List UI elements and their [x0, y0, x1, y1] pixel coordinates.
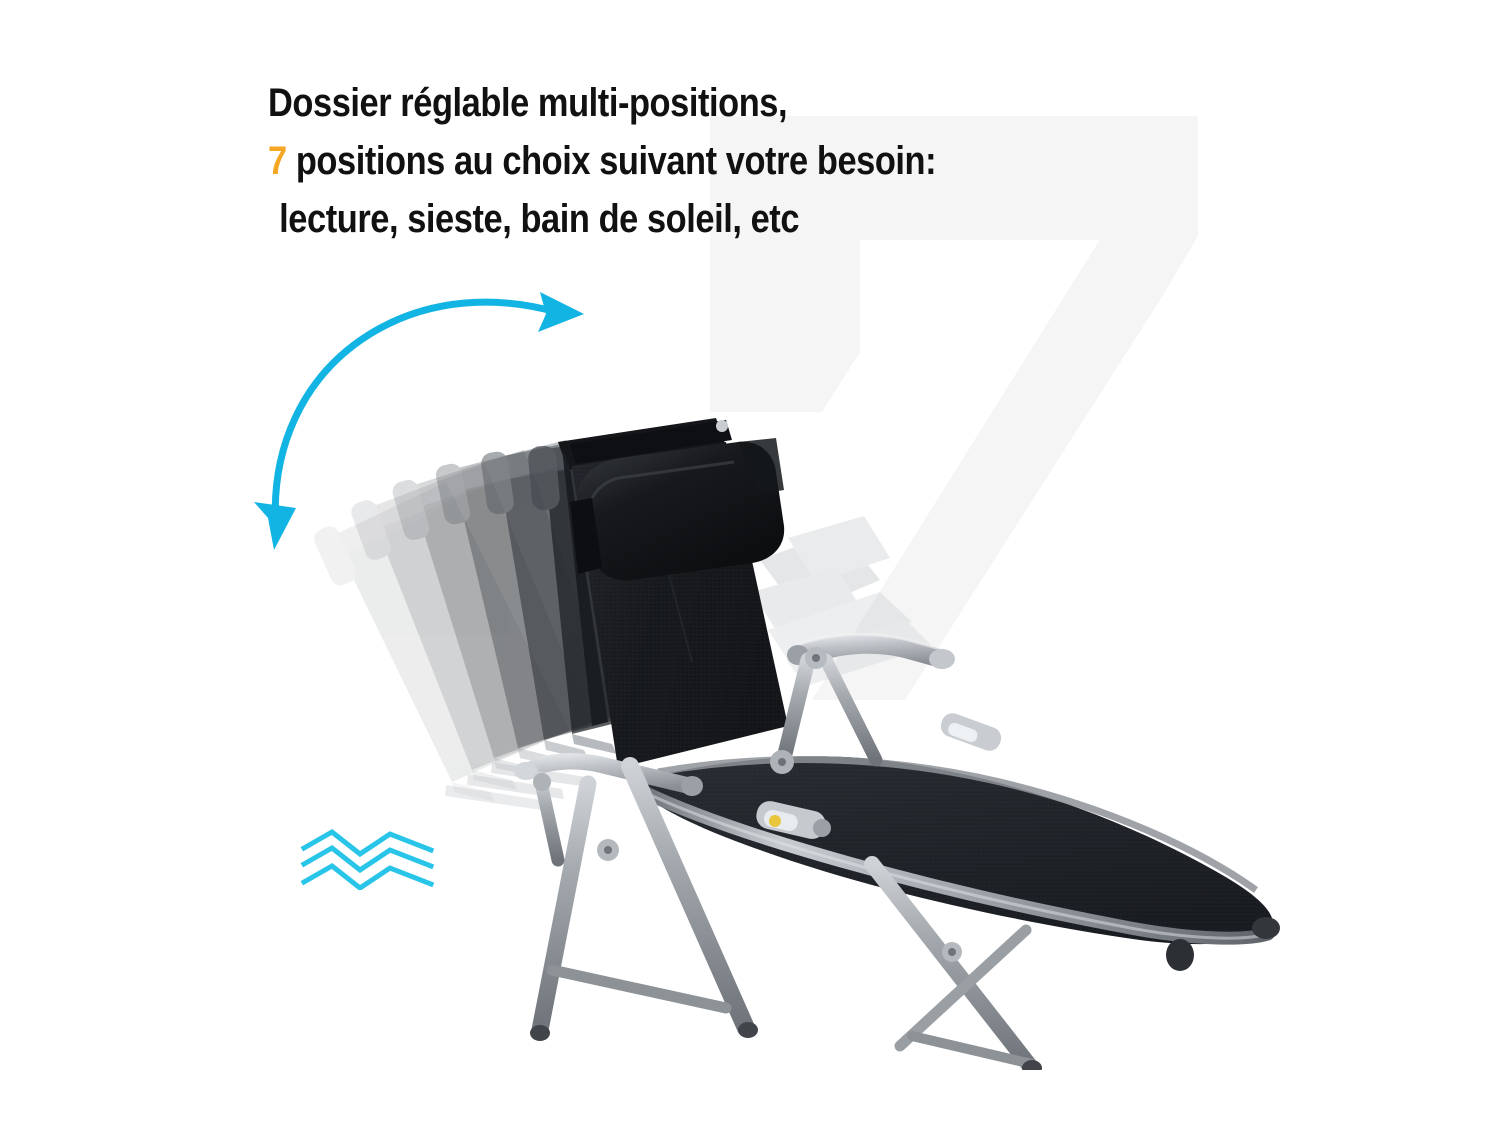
headline-line-2: 7 positions au choix suivant votre besoi… [268, 132, 939, 190]
recline-motion-arrow [240, 280, 620, 560]
headline-line-2-rest: positions au choix suivant votre besoin: [287, 139, 936, 183]
headline-line-3: lecture, sieste, bain de soleil, etc [268, 190, 939, 248]
wave-line-3 [304, 866, 431, 888]
hinge-warning-label [769, 815, 781, 827]
headline-line-1: Dossier réglable multi-positions, [268, 74, 939, 132]
legrest-foot-cap-right [1252, 917, 1280, 939]
seat-legrest-mesh-texture [638, 756, 1273, 944]
wave-accent-icon [300, 828, 435, 890]
headline-accent-seven: 7 [268, 139, 287, 183]
front-cross-brace [552, 970, 726, 1008]
legrest-foot-cap-mid [1166, 939, 1194, 971]
headline-block: Dossier réglable multi-positions, 7 posi… [268, 74, 1048, 248]
backrest-top-cap [716, 420, 728, 432]
recline-arrow-group [254, 292, 584, 550]
sling-hinge [938, 710, 1004, 754]
left-arm-support [533, 773, 558, 860]
product-feature-banner: Dossier réglable multi-positions, 7 posi… [0, 0, 1500, 1125]
arrow-head-bottom [254, 502, 296, 550]
